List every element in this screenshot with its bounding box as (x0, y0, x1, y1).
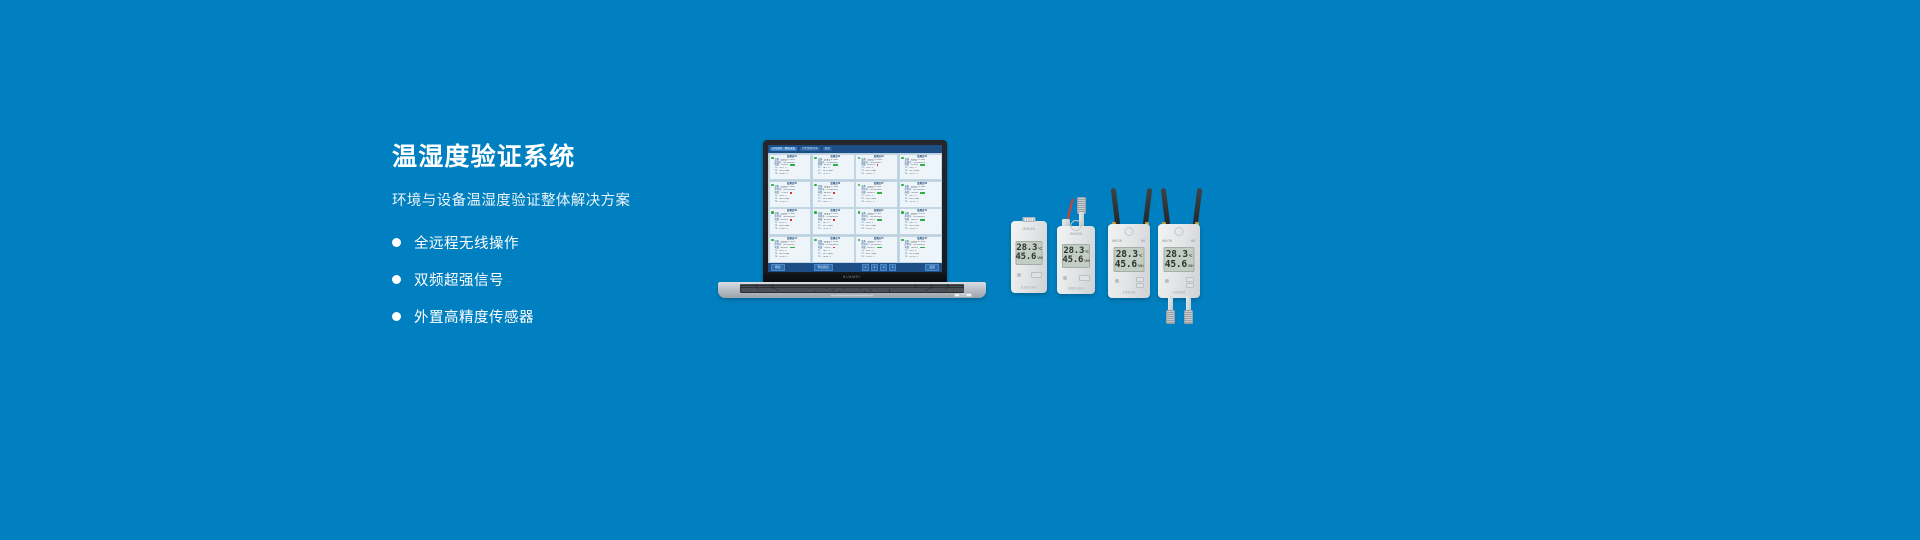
page-title: 温湿度验证系统 (392, 142, 722, 173)
sensor-t3-key: T3 : (861, 256, 865, 259)
device-lcd-display: 28.3 ℃ 45.6 %RH (1114, 247, 1145, 272)
device-lcd-display: 28.3 ℃ 45.6 %RH (1062, 244, 1090, 268)
pagination: 1 2 3 4 (862, 264, 897, 271)
signal-bar-icon (790, 164, 795, 166)
tab-history[interactable]: 历史数据查询 (800, 147, 820, 151)
temperature-unit: ℃ (1085, 251, 1089, 255)
device-wireless-node-2: INKON H8 28.3 ℃ 45.6 %RH 无线温湿度 (1158, 224, 1200, 298)
sensor-t3-key: T3 : (905, 173, 909, 176)
signal-bar-icon (790, 247, 795, 249)
temperature-value: 28.3 (1116, 250, 1138, 260)
page-subtitle: 环境与设备温湿度验证整体解决方案 (392, 189, 722, 210)
sensor-t3-row: T3 :25.24 ℃ (861, 256, 896, 259)
keyboard-key[interactable] (765, 291, 789, 292)
status-dot-icon (771, 239, 774, 242)
device-button-down[interactable] (1136, 283, 1144, 288)
bullet-dot-icon (392, 238, 401, 247)
probe-sensor-head-a (1166, 310, 1175, 324)
laptop-base: Ready (718, 282, 986, 298)
device-button-up[interactable] (1186, 277, 1194, 282)
sensor-t3-row: T3 :25.05 ℃ (818, 256, 853, 259)
device-lcd-display: 28.3 ℃ 45.6 %RH (1164, 247, 1195, 272)
sensor-t3-key: T3 : (861, 173, 865, 176)
sensor-card[interactable]: 监测点16设备:温湿度 FT-S16序列号:7312005025电量:68.00… (899, 236, 942, 263)
sensor-card[interactable]: 监测点15设备:温湿度 FT-S15序列号:7312005024电量:90.00… (855, 236, 898, 263)
laptop-lid: 实时监控 · 数据采集 历史数据查询 报警 监测点01设备:温湿度 FT-S01… (763, 140, 947, 282)
device-model-label: H8 (1141, 239, 1145, 243)
sensor-t3-row: T3 :25.07 ℃ (818, 201, 853, 204)
temperature-reading: 28.3 ℃ (1166, 250, 1192, 260)
feature-label: 外置高精度传感器 (414, 306, 534, 327)
status-dot-icon (814, 157, 817, 160)
sensor-card[interactable]: 监测点09设备:温湿度 FT-S09序列号:7312005018电量:80.00… (769, 208, 812, 235)
device-footer-label: 无线温湿度 (1172, 290, 1185, 294)
laptop-trackpad[interactable] (830, 294, 874, 297)
sensor-t3-row: T3 :25.18 ℃ (775, 256, 810, 259)
sensor-t3-value: 25.09 ℃ (779, 228, 788, 231)
device-brand-label: INKON (1057, 232, 1095, 236)
sensor-t3-key: T3 : (818, 228, 822, 231)
device-logger-probe: INKON 28.3 ℃ 45.6 %RH 温湿度记录仪 (1057, 226, 1095, 294)
sensor-t3-row: T3 :25.31 ℃ (861, 201, 896, 204)
sensor-t3-value: 25.11 ℃ (823, 173, 831, 176)
sensor-card[interactable]: 监测点08设备:温湿度 FT-S08序列号:7312005017电量:73.00… (899, 181, 942, 208)
sensor-card[interactable]: 监测点14设备:温湿度 FT-S14序列号:7312005023电量:79.00… (812, 236, 855, 263)
laptop-brand: HUAWEI (843, 275, 861, 279)
keyboard-key[interactable] (815, 291, 839, 292)
tab-alarm[interactable]: 报警 (823, 147, 832, 151)
signal-bar-icon (920, 247, 925, 249)
sensor-t3-row: T3 :25.11 ℃ (818, 173, 853, 176)
device-footer-label: 温湿度记录仪 (1021, 285, 1037, 289)
sensor-t3-value: 25.13 ℃ (909, 256, 918, 259)
sensor-card[interactable]: 监测点03设备:温湿度 FT-S03序列号:7312005012电量:69.00… (855, 154, 898, 181)
humidity-unit: %RH (1084, 260, 1090, 264)
sensor-t3-row: T3 :25.26 ℃ (861, 228, 896, 231)
status-dot-icon (771, 211, 774, 214)
status-dot-icon (771, 184, 774, 187)
temperature-unit: ℃ (1139, 255, 1143, 259)
tab-realtime[interactable]: 实时监控 · 数据采集 (770, 147, 797, 151)
antenna-right (1143, 188, 1152, 226)
sensor-t3-row: T3 :25.09 ℃ (775, 228, 810, 231)
humidity-reading: 45.6 %RH (1015, 253, 1042, 262)
sensor-t3-row: T3 :25.19 ℃ (775, 201, 810, 204)
sensor-t3-key: T3 : (775, 228, 779, 231)
sensor-t3-key: T3 : (905, 228, 909, 231)
device-brand-label: INKON (1162, 239, 1172, 243)
hang-loop-icon (1071, 220, 1082, 231)
product-banner: 温湿度验证系统 环境与设备温湿度验证整体解决方案 全远程无线操作 双频超强信号 … (0, 0, 1920, 540)
list-item: 双频超强信号 (392, 269, 722, 290)
alarm-indicator-icon (833, 192, 835, 194)
signal-bar-icon (833, 164, 838, 166)
sensor-t3-row: T3 :25.12 ℃ (905, 201, 940, 204)
sensor-t3-key: T3 : (818, 201, 822, 204)
signal-bar-icon (920, 219, 925, 221)
status-dot-icon (901, 211, 904, 214)
status-dot-icon (771, 157, 774, 160)
device-button[interactable] (1031, 272, 1042, 278)
laptop-keyboard[interactable] (740, 284, 964, 294)
sensor-t3-value: 25.07 ℃ (823, 201, 832, 204)
laptop-sticker: Ready (954, 293, 972, 297)
status-dot-icon (858, 157, 861, 160)
status-led-icon (1017, 273, 1021, 277)
sensor-t3-value: 25.26 ℃ (866, 228, 875, 231)
status-led-icon (1063, 276, 1067, 280)
alarm-indicator-icon (790, 192, 792, 194)
sensor-t3-row: T3 :25.22 ℃ (905, 173, 940, 176)
settings-button[interactable]: 设置 (925, 264, 939, 271)
status-dot-icon (858, 239, 861, 242)
humidity-reading: 45.6 %RH (1062, 256, 1089, 265)
laptop-screen: 实时监控 · 数据采集 历史数据查询 报警 监测点01设备:温湿度 FT-S01… (768, 145, 942, 272)
status-led-icon (1165, 279, 1169, 283)
signal-bar-icon (920, 164, 925, 166)
sensor-t3-key: T3 : (861, 201, 865, 204)
sensor-t3-row: T3 :25.03 ℃ (905, 228, 940, 231)
hang-loop-icon (1175, 227, 1184, 236)
sensor-card[interactable]: 监测点01设备:温湿度 FT-S01序列号:7312005010电量:75.00… (769, 154, 812, 181)
keyboard-key[interactable] (865, 291, 889, 292)
bullet-dot-icon (392, 275, 401, 284)
probe-sensor-head-b (1184, 310, 1193, 324)
sensor-t3-row: T3 :25.13 ℃ (905, 256, 940, 259)
humidity-unit: %RH (1138, 265, 1144, 269)
temperature-reading: 28.3 ℃ (1116, 250, 1142, 260)
page-button-3[interactable]: 3 (880, 264, 888, 271)
feature-label: 全远程无线操作 (414, 232, 519, 253)
sensor-card[interactable]: 监测点02设备:温湿度 FT-S02序列号:7312005011电量:82.00… (812, 154, 855, 181)
humidity-value: 45.6 (1015, 253, 1036, 262)
device-button[interactable] (1079, 275, 1090, 281)
sensor-t3-row: T3 :25.15 ℃ (818, 228, 853, 231)
device-footer-label: 无线温湿度 (1122, 290, 1135, 294)
page-button-2[interactable]: 2 (871, 264, 879, 271)
alarm-indicator-icon (877, 164, 879, 166)
humidity-reading: 45.6 %RH (1115, 260, 1143, 270)
device-model-label: H8 (1191, 239, 1195, 243)
sensor-card[interactable]: 监测点12设备:温湿度 FT-S12序列号:7312005021电量:66.00… (899, 208, 942, 235)
alarm-indicator-icon (833, 247, 835, 249)
sensor-t3-key: T3 : (775, 173, 779, 176)
sensor-t3-key: T3 : (905, 256, 909, 259)
signal-bar-icon (877, 247, 882, 249)
feature-list: 全远程无线操作 双频超强信号 外置高精度传感器 (392, 232, 722, 327)
page-button-1[interactable]: 1 (862, 264, 870, 271)
temperature-unit: ℃ (1038, 248, 1042, 252)
alarm-indicator-icon (790, 219, 792, 221)
device-button-up[interactable] (1136, 277, 1144, 282)
sensor-t3-key: T3 : (818, 256, 822, 259)
status-dot-icon (901, 157, 904, 160)
device-lcd-display: 28.3 ℃ 45.6 %RH (1016, 241, 1043, 265)
device-brand-label: INKON (1011, 227, 1047, 231)
list-item: 全远程无线操作 (392, 232, 722, 253)
sensor-t3-row: T3 :25.04 ℃ (861, 173, 896, 176)
sensor-card[interactable]: 监测点11设备:温湿度 FT-S11序列号:7312005020电量:71.00… (855, 208, 898, 235)
sensor-card[interactable]: 监测点07设备:温湿度 FT-S07序列号:7312005016电量:88.00… (855, 181, 898, 208)
sensor-t3-value: 25.15 ℃ (823, 228, 832, 231)
list-item: 外置高精度传感器 (392, 306, 722, 327)
humidity-value: 45.6 (1165, 260, 1187, 270)
page-button-4[interactable]: 4 (889, 264, 897, 271)
signal-bar-icon (877, 219, 882, 221)
temperature-value: 28.3 (1166, 250, 1188, 260)
sensor-t3-key: T3 : (775, 201, 779, 204)
antenna-left (1161, 188, 1170, 226)
sensor-t3-key: T3 : (905, 201, 909, 204)
sensor-card[interactable]: 监测点10设备:温湿度 FT-S10序列号:7312005019电量:95.00… (812, 208, 855, 235)
sensor-t3-value: 25.03 ℃ (909, 228, 918, 231)
device-brand-label: INKON (1112, 239, 1122, 243)
signal-bar-icon (877, 192, 882, 194)
status-dot-icon (814, 184, 817, 187)
laptop-product-image: 实时监控 · 数据采集 历史数据查询 报警 监测点01设备:温湿度 FT-S01… (718, 140, 986, 298)
sensor-card[interactable]: 监测点06设备:温湿度 FT-S06序列号:7312005015电量:64.00… (812, 181, 855, 208)
sensor-card-grid: 监测点01设备:温湿度 FT-S01序列号:7312005010电量:75.00… (768, 153, 942, 263)
sensor-card[interactable]: 监测点13设备:温湿度 FT-S13序列号:7312005022电量:84.00… (769, 236, 812, 263)
sensor-t3-value: 25.19 ℃ (779, 201, 788, 204)
humidity-value: 45.6 (1115, 260, 1137, 270)
sensor-t3-value: 25.24 ℃ (866, 256, 875, 259)
keyboard-key[interactable] (790, 291, 814, 292)
device-button-down[interactable] (1186, 283, 1194, 288)
refresh-button[interactable]: 刷新 (771, 264, 785, 271)
keyboard-key[interactable] (890, 291, 914, 292)
feature-label: 双频超强信号 (414, 269, 504, 290)
sensor-card[interactable]: 监测点05设备:温湿度 FT-S05序列号:7312005014电量:77.00… (769, 181, 812, 208)
app-tabbar: 实时监控 · 数据采集 历史数据查询 报警 (768, 145, 942, 153)
sensor-t3-value: 25.04 ℃ (866, 173, 875, 176)
signal-bar-icon (920, 192, 925, 194)
humidity-unit: %RH (1188, 265, 1194, 269)
antenna-left (1111, 188, 1120, 226)
status-dot-icon (814, 211, 817, 214)
status-dot-icon (858, 211, 861, 214)
sensor-card[interactable]: 监测点04设备:温湿度 FT-S04序列号:7312005013电量:91.00… (899, 154, 942, 181)
humidity-unit: %RH (1037, 257, 1043, 261)
vent-grille-icon (1023, 217, 1036, 222)
keyboard-row (741, 291, 964, 292)
keyboard-key[interactable] (741, 291, 765, 292)
humidity-reading: 45.6 %RH (1165, 260, 1193, 270)
banner-text-block: 温湿度验证系统 环境与设备温湿度验证整体解决方案 全远程无线操作 双频超强信号 … (392, 142, 722, 343)
alarm-indicator-icon (833, 219, 835, 221)
status-dot-icon (901, 184, 904, 187)
export-button[interactable]: 导出报表 (814, 264, 833, 271)
sensor-t3-value: 25.31 ℃ (866, 201, 875, 204)
sensor-t3-value: 25.22 ℃ (909, 173, 918, 176)
sensor-t3-value: 25.18 ℃ (779, 256, 788, 259)
humidity-value: 45.6 (1062, 256, 1083, 265)
sensor-t3-key: T3 : (775, 256, 779, 259)
status-dot-icon (858, 184, 861, 187)
sensor-t3-row: T3 :25.08 ℃ (775, 173, 810, 176)
temperature-unit: ℃ (1189, 255, 1193, 259)
sensor-t3-key: T3 : (818, 173, 822, 176)
sensor-t3-value: 25.12 ℃ (909, 201, 918, 204)
device-logger-basic: INKON 28.3 ℃ 45.6 %RH 温湿度记录仪 (1011, 221, 1047, 293)
keyboard-key[interactable] (840, 291, 864, 292)
keyboard-key[interactable] (914, 291, 938, 292)
status-dot-icon (814, 239, 817, 242)
bullet-dot-icon (392, 312, 401, 321)
sensor-t3-value: 25.08 ℃ (779, 173, 788, 176)
sensor-t3-key: T3 : (861, 228, 865, 231)
antenna-right (1193, 188, 1202, 226)
device-wireless-node-1: INKON H8 28.3 ℃ 45.6 %RH 无线温湿度 (1108, 224, 1150, 298)
app-toolbar: 刷新 导出报表 1 2 3 4 设置 (768, 263, 942, 272)
status-dot-icon (901, 239, 904, 242)
device-footer-label: 温湿度记录仪 (1068, 286, 1084, 290)
hang-loop-icon (1125, 227, 1134, 236)
sensor-t3-value: 25.05 ℃ (823, 256, 832, 259)
status-led-icon (1115, 279, 1119, 283)
